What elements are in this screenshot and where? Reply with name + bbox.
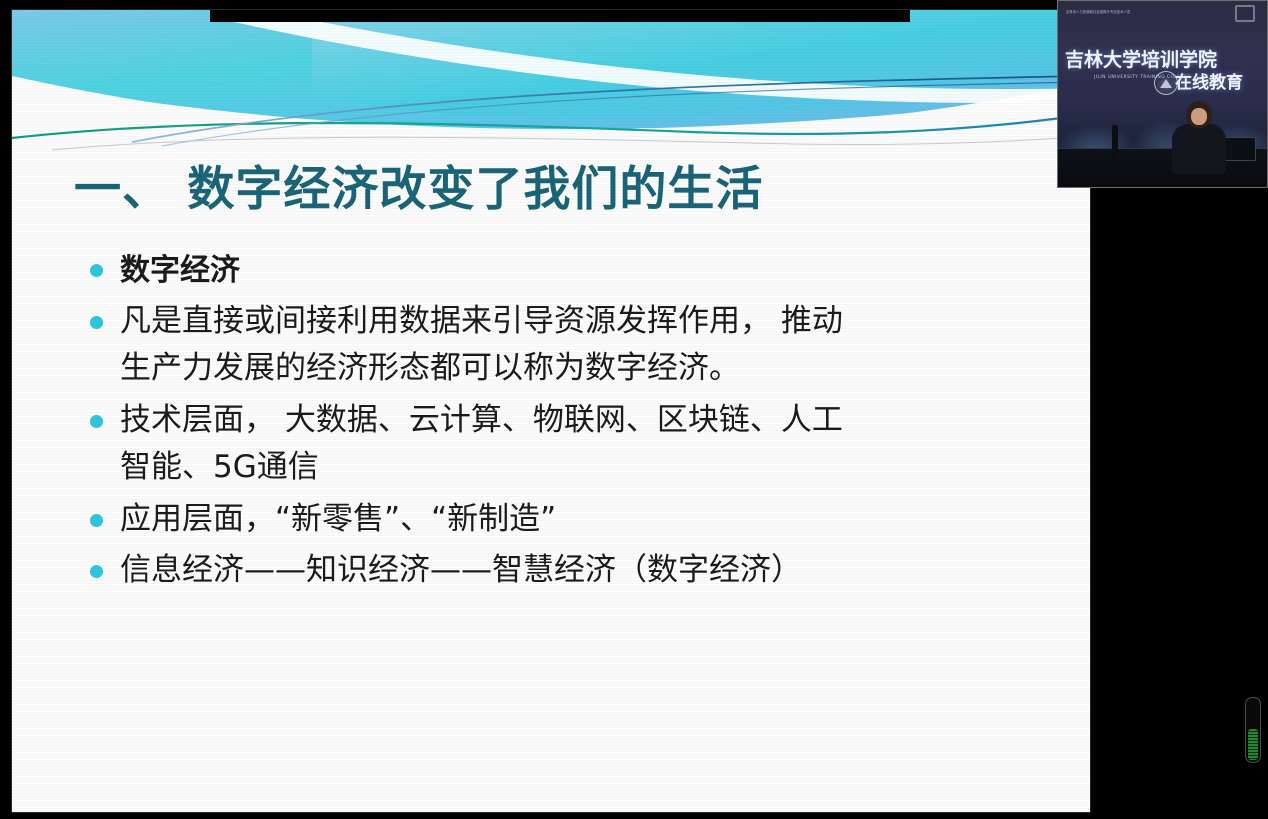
speaker-torso xyxy=(1172,124,1226,174)
speaker-face xyxy=(1191,108,1207,125)
screen-capture: 一、 数字经济改变了我们的生活 数字经济 凡是直接或间接利用数据来引导资源发挥作… xyxy=(0,0,1268,819)
banner-title-text: 吉林大学培训学院 xyxy=(1065,51,1265,70)
bullet-dot-icon xyxy=(90,514,103,527)
audio-level-fill xyxy=(1248,729,1258,760)
list-item: 应用层面，“新零售”、“新制造” xyxy=(82,496,1052,543)
bullet-line: 数字经济 xyxy=(120,248,1052,294)
slide-title: 一、 数字经济改变了我们的生活 xyxy=(74,165,1054,214)
bullet-line: 技术层面， 大数据、云计算、物联网、区块链、人工 xyxy=(120,397,1052,444)
bullet-dot-icon xyxy=(90,264,103,277)
list-item: 信息经济——知识经济——智慧经济（数字经济） xyxy=(82,547,1052,594)
bullet-dot-icon xyxy=(90,565,103,578)
list-item: 数字经济 xyxy=(82,248,1052,294)
bullet-line: 凡是直接或间接利用数据来引导资源发挥作用， 推动 xyxy=(120,298,1052,345)
bullet-dot-icon xyxy=(90,316,103,329)
banner-subtitle-text: 在线教育 xyxy=(1175,75,1243,92)
slide-bullet-list: 数字经济 凡是直接或间接利用数据来引导资源发挥作用， 推动 生产力发展的经济形态… xyxy=(82,248,1052,598)
audio-level-meter[interactable] xyxy=(1245,697,1261,763)
bullet-line: 智能、5G通信 xyxy=(120,444,1052,491)
banner-subheader-text: 吉林省人力资源和社会保障厅专业技术人员 xyxy=(1066,10,1176,15)
bullet-line: 信息经济——知识经济——智慧经济（数字经济） xyxy=(120,547,1052,594)
bullet-line: 应用层面，“新零售”、“新制造” xyxy=(120,496,1052,543)
projector-letterbox-bar xyxy=(210,10,910,22)
slide-header-wave-decoration xyxy=(12,10,1090,160)
microphone-icon xyxy=(1112,125,1118,159)
presentation-slide: 一、 数字经济改变了我们的生活 数字经济 凡是直接或间接利用数据来引导资源发挥作… xyxy=(12,10,1090,812)
bullet-line: 生产力发展的经济形态都可以称为数字经济。 xyxy=(120,345,1052,392)
speaker-figure xyxy=(1170,101,1228,173)
list-item: 凡是直接或间接利用数据来引导资源发挥作用， 推动 生产力发展的经济形态都可以称为… xyxy=(82,298,1052,393)
webcam-video-overlay[interactable]: 吉林省人力资源和社会保障厅专业技术人员 吉林大学培训学院 JILIN UNIVE… xyxy=(1057,0,1268,188)
bullet-dot-icon xyxy=(90,415,103,428)
recording-indicator-icon xyxy=(1235,5,1255,22)
list-item: 技术层面， 大数据、云计算、物联网、区块链、人工 智能、5G通信 xyxy=(82,397,1052,492)
